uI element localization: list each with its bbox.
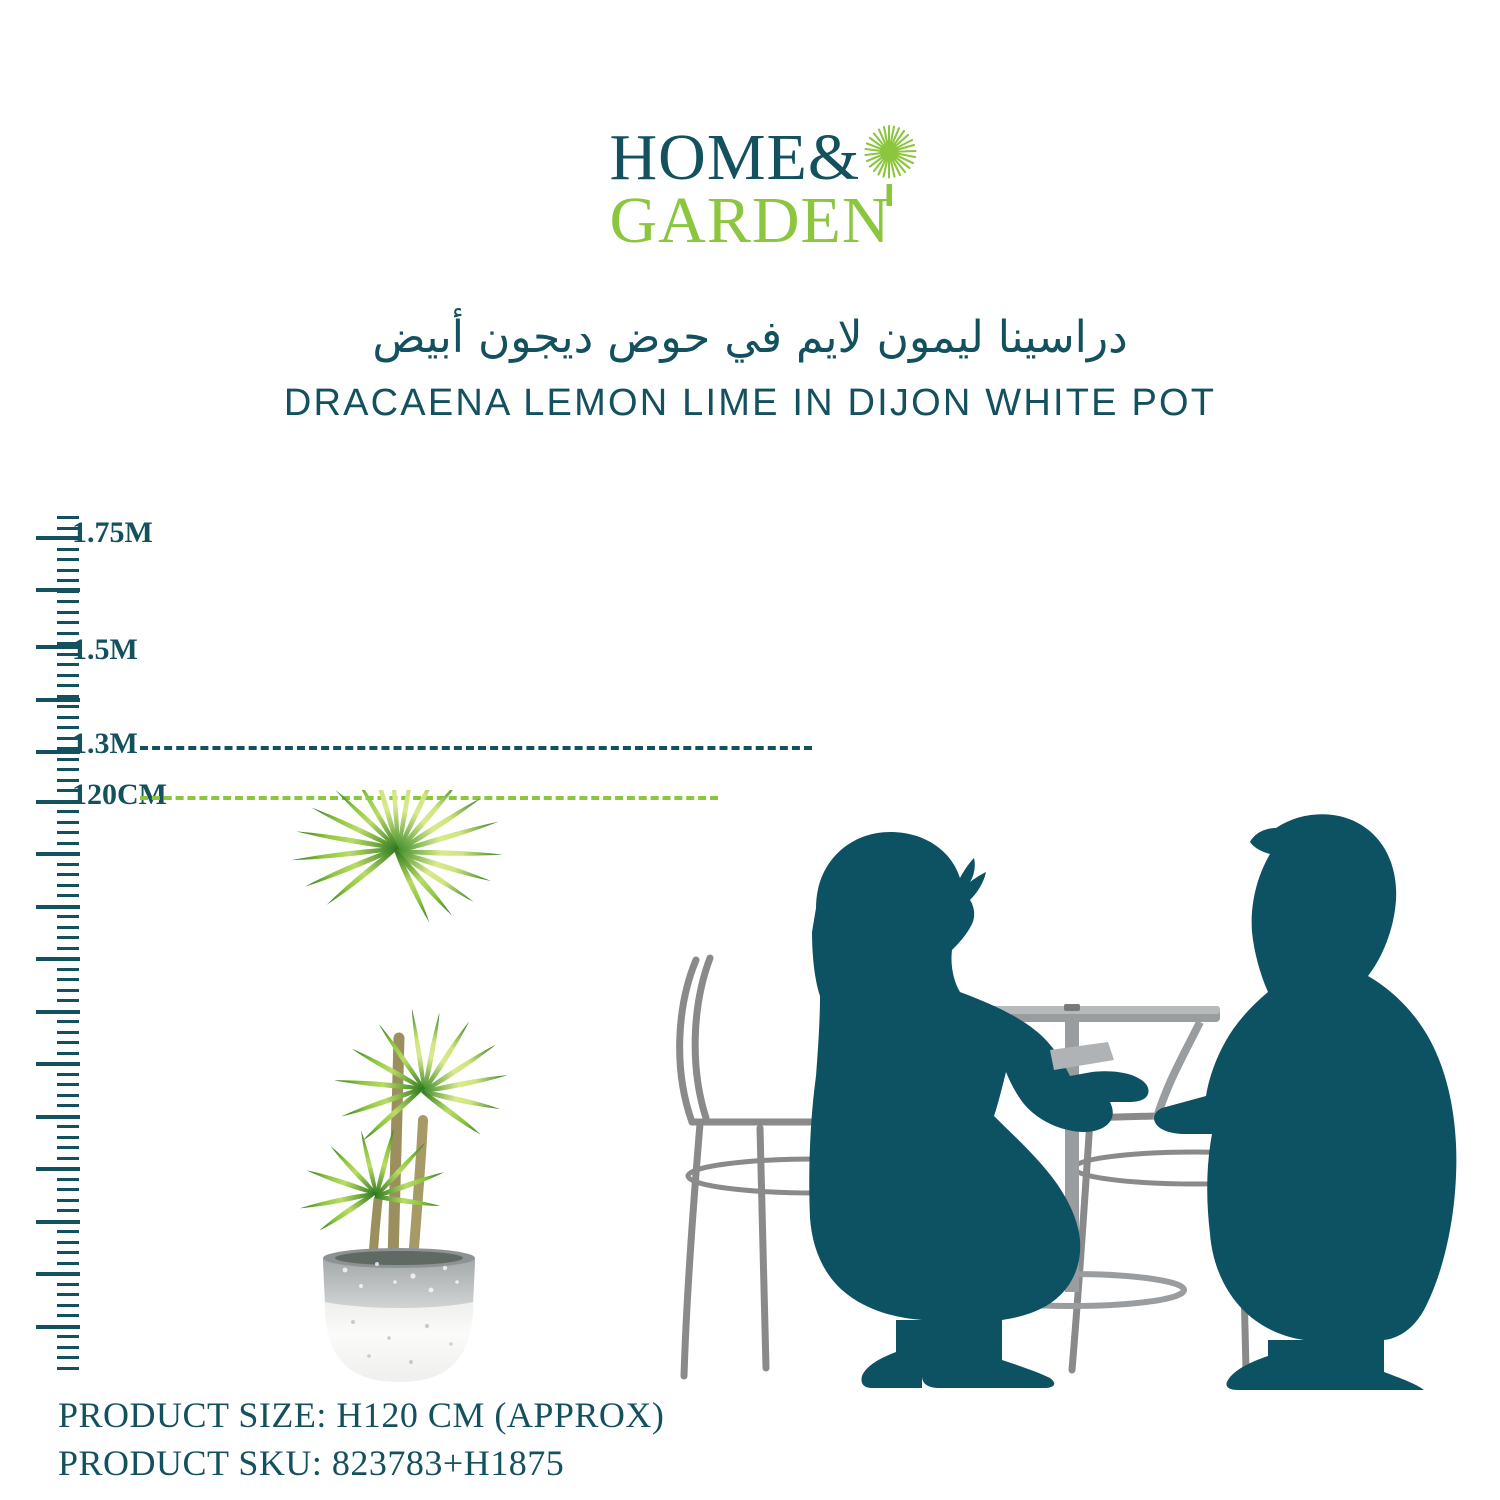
ruler-minor-tick — [57, 1178, 79, 1181]
ruler-label-175m: 1.75M — [72, 516, 153, 550]
dandelion-flower-icon — [856, 124, 918, 206]
brand-name-garden: GARDEN — [610, 191, 891, 252]
ruler-label-13m: 1.3M — [72, 727, 138, 761]
plant-canes — [373, 1038, 423, 1260]
ruler-minor-tick — [57, 884, 79, 887]
dijon-white-speckled-pot — [323, 1248, 475, 1382]
ruler-minor-tick — [57, 1209, 79, 1212]
person-seated-right-silhouette — [1154, 814, 1456, 1390]
ruler-minor-tick — [57, 821, 79, 824]
ruler-minor-tick — [57, 768, 79, 771]
ruler-major-tick — [36, 905, 80, 909]
ruler-label-15m: 1.5M — [72, 633, 138, 667]
ruler-minor-tick — [57, 1020, 79, 1023]
ruler-major-tick — [36, 1010, 80, 1014]
ruler-minor-tick — [57, 1031, 79, 1034]
ruler-minor-tick — [57, 569, 79, 572]
ruler-minor-tick — [57, 1188, 79, 1191]
ruler-minor-tick — [57, 863, 79, 866]
ruler-minor-tick — [57, 716, 79, 719]
ruler-minor-tick — [57, 600, 79, 603]
ruler-minor-tick — [57, 611, 79, 614]
ruler-minor-tick — [57, 978, 79, 981]
ruler-major-tick — [36, 852, 80, 856]
ruler-minor-tick — [57, 1346, 79, 1349]
product-title-arabic: دراسينا ليمون لايم في حوض ديجون أبيض — [0, 312, 1500, 363]
ruler-minor-tick — [57, 621, 79, 624]
ruler-minor-tick — [57, 873, 79, 876]
ruler-minor-tick — [57, 1199, 79, 1202]
ruler-minor-tick — [57, 1073, 79, 1076]
ruler-major-tick — [36, 698, 80, 702]
ruler-minor-tick — [57, 705, 79, 708]
ruler-minor-tick — [57, 1094, 79, 1097]
ruler-major-tick — [36, 1325, 80, 1329]
product-size-line: PRODUCT SIZE: H120 CM (APPROX) — [58, 1392, 664, 1440]
ruler-major-tick — [36, 1115, 80, 1119]
left-person-handheld-device — [1050, 1042, 1114, 1070]
ruler-minor-tick — [57, 831, 79, 834]
ruler-major-tick — [36, 1220, 80, 1224]
ruler-minor-tick — [57, 989, 79, 992]
people-scale-reference-scene — [640, 720, 1500, 1390]
ruler-minor-tick — [57, 1356, 79, 1359]
ruler-minor-tick — [57, 915, 79, 918]
product-details-footer: PRODUCT SIZE: H120 CM (APPROX) PRODUCT S… — [58, 1392, 664, 1487]
ruler-major-tick — [36, 588, 80, 592]
product-title-english: DRACAENA LEMON LIME IN DIJON WHITE POT — [0, 382, 1500, 425]
ruler-minor-tick — [57, 1041, 79, 1044]
ruler-minor-tick — [57, 999, 79, 1002]
ruler-minor-tick — [57, 947, 79, 950]
ruler-major-tick — [36, 1272, 80, 1276]
ruler-minor-tick — [57, 684, 79, 687]
ruler-minor-tick — [57, 1314, 79, 1317]
ruler-minor-tick — [57, 1293, 79, 1296]
product-infographic: HOME& GARDEN — [0, 0, 1500, 1500]
plant-rosette-top — [291, 790, 502, 925]
ruler-minor-tick — [57, 1052, 79, 1055]
ruler-minor-tick — [57, 1146, 79, 1149]
ruler-minor-tick — [57, 1241, 79, 1244]
ruler-minor-tick — [57, 1157, 79, 1160]
ruler-minor-tick — [57, 1136, 79, 1139]
ruler-minor-tick — [57, 936, 79, 939]
ruler-minor-tick — [57, 894, 79, 897]
dracaena-lemon-lime-plant — [245, 790, 555, 1390]
ruler-major-tick — [36, 1062, 80, 1066]
ruler-minor-tick — [57, 1125, 79, 1128]
ruler-major-tick — [36, 957, 80, 961]
brand-logo-inner: HOME& GARDEN — [610, 128, 891, 251]
ruler-minor-tick — [57, 926, 79, 929]
ruler-minor-tick — [57, 1262, 79, 1265]
ruler-label-120cm: 120CM — [72, 778, 167, 812]
ruler-minor-tick — [57, 1304, 79, 1307]
ruler-minor-tick — [57, 558, 79, 561]
ruler-minor-tick — [57, 1104, 79, 1107]
ruler-major-tick — [36, 1167, 80, 1171]
ruler-minor-tick — [57, 1283, 79, 1286]
ruler-minor-tick — [57, 674, 79, 677]
ruler-minor-tick — [57, 1335, 79, 1338]
ruler-minor-tick — [57, 1251, 79, 1254]
ruler-minor-tick — [57, 968, 79, 971]
product-sku-line: PRODUCT SKU: 823783+H1875 — [58, 1440, 664, 1488]
ruler-minor-tick — [57, 1367, 79, 1370]
brand-logo: HOME& GARDEN — [0, 128, 1500, 251]
ruler-minor-tick — [57, 842, 79, 845]
ruler-minor-tick — [57, 1230, 79, 1233]
ruler-minor-tick — [57, 579, 79, 582]
brand-name-home: HOME& — [610, 128, 891, 189]
ruler-minor-tick — [57, 1083, 79, 1086]
